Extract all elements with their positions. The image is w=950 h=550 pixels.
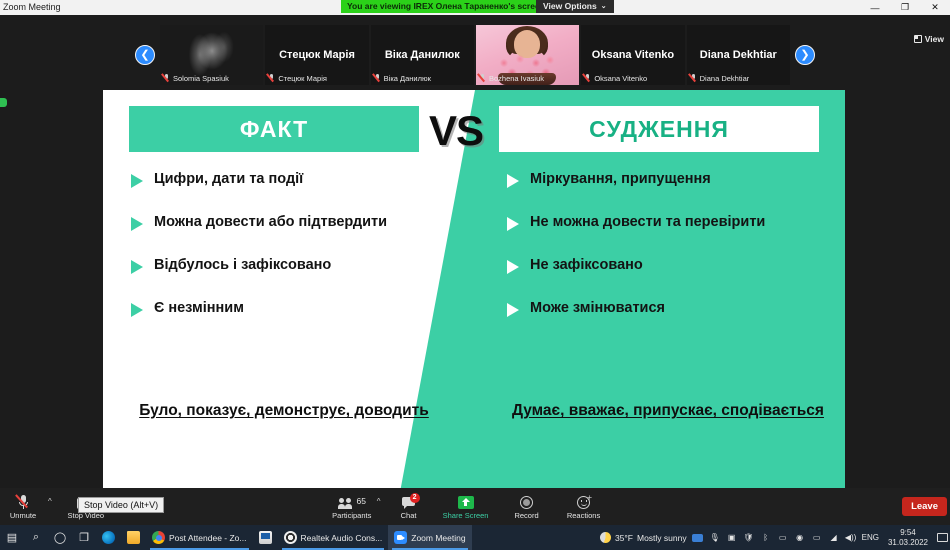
chrome-icon (152, 531, 165, 544)
chat-unread-badge: 2 (410, 493, 420, 503)
maximize-button[interactable]: ❐ (890, 0, 920, 15)
window-controls: — ❐ ✕ (860, 0, 950, 15)
clock-date: 31.03.2022 (888, 538, 928, 547)
mic-muted-icon (479, 74, 486, 83)
participant-name: Стецюк Марія (278, 74, 327, 83)
share-banner-text: You are viewing IREX Олена Тараненко's s… (347, 0, 545, 13)
system-tray: 35°F Mostly sunny 🎙 ▣ 🛡 ᛒ ▭ ◉ ▭ ◢ ◀)) EN… (600, 525, 950, 550)
participant-tile-diana[interactable]: Diana Dekhtiar Diana Dekhtiar (687, 25, 790, 85)
mic-muted-icon (268, 74, 275, 83)
stop-video-tooltip: Stop Video (Alt+V) (78, 497, 164, 513)
participant-initials-name: Oksana Vitenko (589, 49, 677, 61)
participant-label: Solomia Spasiuk (160, 73, 233, 85)
tray-chevron-up-icon[interactable] (692, 532, 704, 544)
triangle-bullet-icon (507, 260, 519, 274)
triangle-bullet-icon (131, 260, 143, 274)
mic-muted-icon (584, 74, 591, 83)
participant-initials-name: Diana Dekhtiar (697, 49, 780, 61)
participant-label: Diana Dekhtiar (687, 73, 754, 85)
record-button[interactable]: Record (499, 488, 555, 525)
list-item: Може змінюватися (507, 299, 837, 318)
view-options-label: View Options (543, 0, 597, 13)
mic-muted-icon (163, 74, 170, 83)
notifications-icon[interactable] (937, 533, 948, 542)
tray-onedrive-icon[interactable]: ▣ (726, 532, 738, 544)
participant-tile-oksana[interactable]: Oksana Vitenko Oksana Vitenko (581, 25, 684, 85)
slide-heading-judgement-text: СУДЖЕННЯ (589, 116, 729, 143)
triangle-bullet-icon (507, 303, 519, 317)
screen-root: Zoom Meeting — ❐ ✕ You are viewing IREX … (0, 0, 950, 550)
filmstrip-prev-arrow-icon[interactable]: ❮ (135, 45, 155, 65)
slide-column-judgement: Міркування, припущення Не можна довести … (507, 170, 837, 343)
record-label: Record (514, 511, 538, 520)
participant-tile-solomia[interactable]: Solomia Spasiuk (160, 25, 263, 85)
tray-volume-icon[interactable]: ◀)) (845, 532, 857, 544)
triangle-bullet-icon (131, 174, 143, 188)
list-item: Не можна довести та перевірити (507, 213, 837, 232)
slide-column-fact: Цифри, дати та події Можна довести або п… (131, 170, 441, 343)
view-layout-button[interactable]: View (910, 32, 948, 46)
edge-icon (102, 531, 115, 544)
participant-tile-stetsiuk[interactable]: Стецюк Марія Стецюк Марія (265, 25, 368, 85)
share-screen-button[interactable]: Share Screen (433, 488, 499, 525)
bullet-text: Не можна довести та перевірити (530, 213, 765, 232)
view-options-button[interactable]: View Options ⌄ (536, 0, 614, 13)
start-button-icon[interactable]: ▤ (0, 525, 24, 550)
participant-name: Diana Dekhtiar (700, 74, 750, 83)
leave-button[interactable]: Leave (902, 497, 947, 516)
reactions-icon: + (577, 494, 590, 509)
reactions-button[interactable]: + Reactions (555, 488, 613, 525)
tray-security-icon[interactable]: 🛡 (743, 532, 755, 544)
list-item: Не зафіксовано (507, 256, 837, 275)
participants-count: 65 (357, 496, 366, 506)
mic-muted-icon (374, 74, 381, 83)
slide-footer-fact: Було, показує, демонструє, доводить (129, 400, 439, 422)
chat-button[interactable]: 2 Chat (385, 488, 433, 525)
chat-label: Chat (401, 511, 417, 520)
connection-indicator-icon (0, 98, 7, 107)
tray-microphone-icon[interactable]: 🎙 (709, 532, 721, 544)
taskbar-app-zoom-meeting[interactable]: Zoom Meeting (388, 525, 471, 550)
participant-name: Solomia Spasiuk (173, 74, 229, 83)
bullet-text: Може змінюватися (530, 299, 665, 318)
participants-options-chevron-icon[interactable]: ^ (375, 497, 385, 516)
chevron-down-icon: ⌄ (601, 0, 607, 13)
tray-battery-icon[interactable]: ▭ (811, 532, 823, 544)
participant-name: Bozhena Ivasiuk (489, 74, 544, 83)
tray-wifi-icon[interactable]: ◢ (828, 532, 840, 544)
taskbar-app-label: Zoom Meeting (411, 533, 465, 543)
tray-camera-icon[interactable]: ◉ (794, 532, 806, 544)
participant-initials-name: Віка Данилюк (382, 49, 463, 61)
taskbar-app-label: Realtek Audio Cons... (301, 533, 383, 543)
microphone-muted-icon (17, 494, 30, 509)
audio-options-chevron-icon[interactable]: ^ (46, 497, 56, 516)
tray-language[interactable]: ENG (862, 533, 879, 542)
participants-label: Participants (332, 511, 371, 520)
bullet-text: Можна довести або підтвердити (154, 213, 387, 232)
bullet-text: Є незмінним (154, 299, 244, 318)
taskbar-clock[interactable]: 9:54 31.03.2022 (884, 528, 932, 546)
vs-label: VS (429, 107, 483, 155)
participant-label: Bozhena Ivasiuk (476, 73, 548, 85)
list-item: Можна довести або підтвердити (131, 213, 441, 232)
share-screen-label: Share Screen (443, 511, 489, 520)
taskbar-app-file-explorer[interactable] (121, 525, 146, 550)
participant-tile-vika[interactable]: Віка Данилюк Віка Данилюк (371, 25, 474, 85)
weather-temp: 35°F (615, 533, 633, 543)
task-view-icon[interactable]: ❐ (72, 525, 96, 550)
shared-screen-slide: ФАКТ VS СУДЖЕННЯ Цифри, дати та події Мо… (103, 90, 845, 503)
tray-bluetooth-icon[interactable]: ᛒ (760, 532, 772, 544)
list-item: Міркування, припущення (507, 170, 837, 189)
taskbar-app-edge[interactable] (96, 525, 121, 550)
share-screen-icon (458, 494, 474, 509)
realtek-icon (284, 531, 297, 544)
clock-time: 9:54 (888, 528, 928, 537)
triangle-bullet-icon (131, 217, 143, 231)
participant-initials-name: Стецюк Марія (276, 49, 358, 61)
unmute-label: Unmute (10, 511, 36, 520)
record-icon (520, 494, 533, 509)
list-item: Відбулось і зафіксовано (131, 256, 441, 275)
slide-footer-judgement: Думає, вважає, припускає, сподівається (503, 400, 833, 422)
triangle-bullet-icon (131, 303, 143, 317)
reactions-label: Reactions (567, 511, 600, 520)
sun-icon (600, 532, 611, 543)
meeting-stage: View Solomia Spasiuk Стецюк Марія Стецюк… (0, 15, 950, 525)
folder-icon (127, 531, 140, 544)
participant-name: Віка Данилюк (384, 74, 431, 83)
window-title: Zoom Meeting (3, 0, 61, 15)
participant-label: Стецюк Марія (265, 73, 331, 85)
screen-share-banner: You are viewing IREX Олена Тараненко's s… (341, 0, 551, 13)
participant-tile-bozhena[interactable]: Bozhena Ivasiuk (476, 25, 579, 85)
blue-app-icon (259, 531, 272, 544)
view-button-label: View (925, 34, 944, 44)
tray-green-app-icon[interactable]: ▭ (777, 532, 789, 544)
triangle-bullet-icon (507, 217, 519, 231)
search-icon[interactable]: ⌕ (24, 525, 48, 550)
bullet-text: Відбулось і зафіксовано (154, 256, 331, 275)
cortana-icon[interactable]: ◯ (48, 525, 72, 550)
taskbar-app-realtek[interactable]: Realtek Audio Cons... (278, 525, 389, 550)
participants-icon: 65 (338, 494, 366, 509)
chat-icon: 2 (402, 494, 416, 509)
close-button[interactable]: ✕ (920, 0, 950, 15)
triangle-bullet-icon (507, 174, 519, 188)
participant-label: Віка Данилюк (371, 73, 435, 85)
participant-filmstrip: Solomia Spasiuk Стецюк Марія Стецюк Марі… (160, 25, 790, 85)
slide-heading-judgement: СУДЖЕННЯ (499, 106, 819, 152)
grid-view-icon (914, 35, 922, 43)
taskbar-app-post-attendee[interactable]: Post Attendee - Zo... (146, 525, 253, 550)
participants-button[interactable]: 65 Participants (329, 488, 375, 525)
slide-heading-fact-text: ФАКТ (240, 116, 308, 143)
list-item: Є незмінним (131, 299, 441, 318)
weather-desc: Mostly sunny (637, 533, 687, 543)
weather-widget[interactable]: 35°F Mostly sunny (600, 532, 687, 543)
taskbar-app-label: Post Attendee - Zo... (169, 533, 247, 543)
slide-heading-fact: ФАКТ (129, 106, 419, 152)
bullet-text: Цифри, дати та події (154, 170, 303, 189)
zoom-icon (394, 531, 407, 544)
mic-muted-icon (690, 74, 697, 83)
bullet-text: Міркування, припущення (530, 170, 711, 189)
bullet-text: Не зафіксовано (530, 256, 643, 275)
participant-name: Oksana Vitenko (594, 74, 647, 83)
participant-label: Oksana Vitenko (581, 73, 651, 85)
minimize-button[interactable]: — (860, 0, 890, 15)
list-item: Цифри, дати та події (131, 170, 441, 189)
unmute-button[interactable]: Unmute (0, 488, 46, 525)
filmstrip-next-arrow-icon[interactable]: ❯ (795, 45, 815, 65)
taskbar-app-blue[interactable] (253, 525, 278, 550)
